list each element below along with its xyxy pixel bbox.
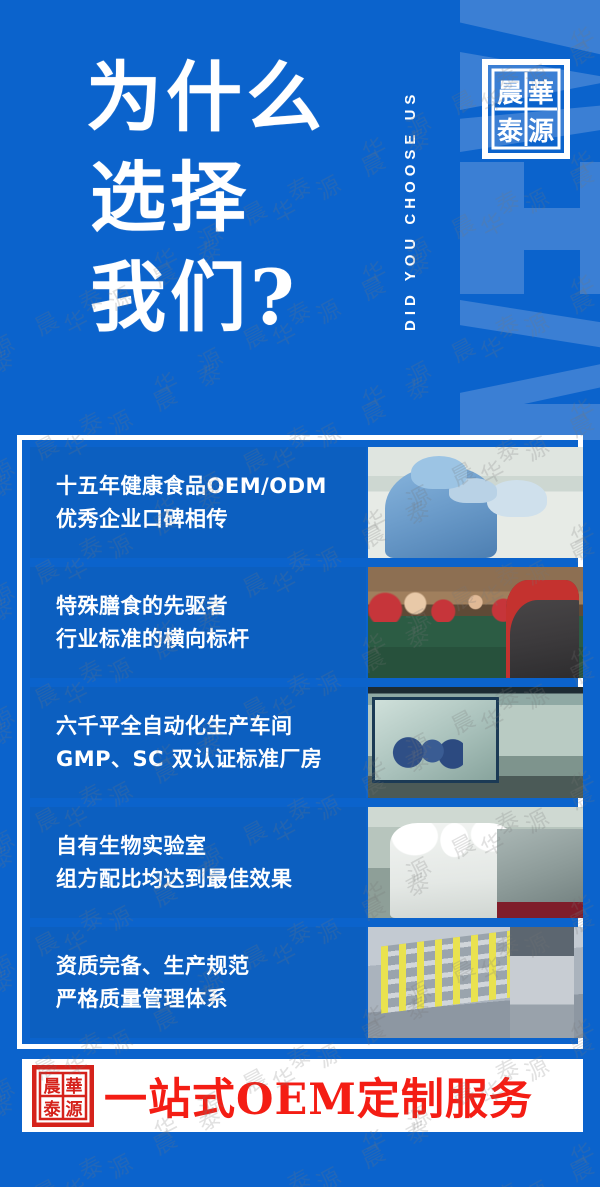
feature-line: 组方配比均达到最佳效果 xyxy=(56,863,366,896)
feature-line: 自有生物实验室 xyxy=(56,830,366,863)
page-title-line-3: 我们? xyxy=(86,248,326,348)
brand-seal-red-icon: 華 源 晨 泰 xyxy=(32,1065,94,1127)
feature-row[interactable]: 十五年健康食品OEM/ODM 优秀企业口碑相传 xyxy=(30,447,583,558)
svg-text:源: 源 xyxy=(528,117,554,147)
feature-line: 严格质量管理体系 xyxy=(56,983,366,1016)
feature-text-block: 资质完备、生产规范 严格质量管理体系 xyxy=(30,927,366,1038)
feature-line: 六千平全自动化生产车间 xyxy=(56,710,366,743)
feature-image-lab-technician xyxy=(368,447,583,558)
feature-line: 十五年健康食品OEM/ODM xyxy=(56,470,366,503)
svg-text:泰: 泰 xyxy=(497,117,524,147)
bottom-cta-text: 一站式OEM定制服务 xyxy=(104,1065,533,1127)
svg-text:華: 華 xyxy=(66,1077,83,1097)
feature-row[interactable]: 自有生物实验室 组方配比均达到最佳效果 xyxy=(30,807,583,918)
brand-seal-white-icon: 華 源 晨 泰 xyxy=(482,58,570,160)
page-title: 为什么 选择 我们? xyxy=(86,48,326,348)
svg-text:泰: 泰 xyxy=(44,1099,62,1120)
feature-line: 优秀企业口碑相传 xyxy=(56,503,366,536)
svg-text:源: 源 xyxy=(66,1099,83,1120)
vertical-english-subtitle: DID YOU CHOOSE US xyxy=(402,24,428,396)
feature-image-bio-lab-workers xyxy=(368,807,583,918)
svg-text:晨: 晨 xyxy=(497,79,524,109)
feature-row[interactable]: 特殊膳食的先驱者 行业标准的横向标杆 xyxy=(30,567,583,678)
feature-image-blister-packaging xyxy=(368,927,583,1038)
feature-row[interactable]: 资质完备、生产规范 严格质量管理体系 xyxy=(30,927,583,1038)
bottom-cta-banner[interactable]: 華 源 晨 泰 一站式OEM定制服务 xyxy=(22,1059,583,1132)
svg-text:華: 華 xyxy=(528,79,554,109)
feature-text-block: 自有生物实验室 组方配比均达到最佳效果 xyxy=(30,807,366,918)
feature-line: GMP、SC 双认证标准厂房 xyxy=(56,743,366,776)
poster-root: 为什么 选择 我们? DID YOU CHOOSE US 華 源 晨 泰 十 xyxy=(0,0,600,1187)
poster-header: 为什么 选择 我们? DID YOU CHOOSE US 華 源 晨 泰 xyxy=(0,0,600,432)
feature-line: 特殊膳食的先驱者 xyxy=(56,590,366,623)
feature-text-block: 特殊膳食的先驱者 行业标准的横向标杆 xyxy=(30,567,366,678)
feature-image-conference-audience xyxy=(368,567,583,678)
page-title-line-2: 选择 xyxy=(86,148,326,248)
page-title-line-1: 为什么 xyxy=(86,48,326,148)
feature-list: 十五年健康食品OEM/ODM 优秀企业口碑相传 特殊膳食的先驱者 行业标准的横向… xyxy=(30,447,583,1038)
feature-line: 行业标准的横向标杆 xyxy=(56,623,366,656)
feature-text-block: 六千平全自动化生产车间 GMP、SC 双认证标准厂房 xyxy=(30,687,366,798)
svg-text:晨: 晨 xyxy=(44,1077,62,1097)
feature-text-block: 十五年健康食品OEM/ODM 优秀企业口碑相传 xyxy=(30,447,366,558)
feature-line: 资质完备、生产规范 xyxy=(56,950,366,983)
feature-row[interactable]: 六千平全自动化生产车间 GMP、SC 双认证标准厂房 xyxy=(30,687,583,798)
feature-image-cleanroom-corridor xyxy=(368,687,583,798)
